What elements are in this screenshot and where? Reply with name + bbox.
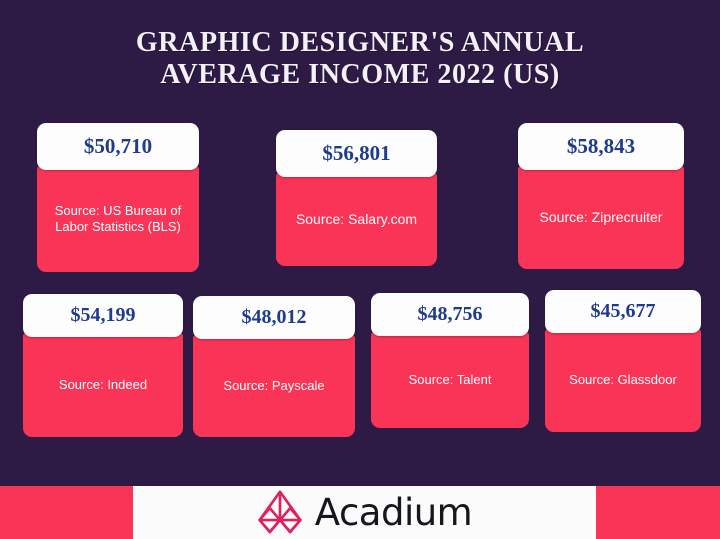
infographic-canvas: GRAPHIC DESIGNER'S ANNUAL AVERAGE INCOME…	[0, 0, 720, 539]
stat-card-value: $56,801	[276, 130, 437, 177]
stat-card: $54,199 Source: Indeed	[23, 294, 183, 437]
stat-card: $58,843 Source: Ziprecruiter	[518, 123, 684, 269]
page-title: GRAPHIC DESIGNER'S ANNUAL AVERAGE INCOME…	[0, 26, 720, 91]
stat-card-value: $45,677	[545, 290, 701, 333]
brand-panel: Acadium	[133, 486, 596, 539]
stat-card-source: Source: Talent	[371, 332, 529, 428]
stat-card-source: Source: Payscale	[193, 335, 355, 437]
page-title-line-1: GRAPHIC DESIGNER'S ANNUAL	[11, 26, 709, 58]
stat-card-source: Source: Ziprecruiter	[518, 166, 684, 269]
stat-card-source: Source: Glassdoor	[545, 329, 701, 432]
stat-card-source: Source: Salary.com	[276, 173, 437, 266]
page-title-line-2: AVERAGE INCOME 2022 (US)	[11, 58, 709, 90]
stat-card-value: $48,756	[371, 293, 529, 336]
footer-bar: Acadium	[0, 486, 720, 539]
stat-card-value: $48,012	[193, 296, 355, 339]
brand-name: Acadium	[315, 494, 472, 531]
stat-card: $48,756 Source: Talent	[371, 293, 529, 428]
stat-card-value: $58,843	[518, 123, 684, 170]
stat-card: $56,801 Source: Salary.com	[276, 130, 437, 266]
stat-card-value: $54,199	[23, 294, 183, 337]
stat-card: $45,677 Source: Glassdoor	[545, 290, 701, 432]
acadium-diamond-icon	[257, 490, 303, 536]
stat-card: $48,012 Source: Payscale	[193, 296, 355, 437]
stat-card-source: Source: Indeed	[23, 333, 183, 437]
stat-card: $50,710 Source: US Bureau of Labor Stati…	[37, 123, 199, 272]
stat-card-value: $50,710	[37, 123, 199, 170]
stat-card-source: Source: US Bureau of Labor Statistics (B…	[37, 166, 199, 272]
